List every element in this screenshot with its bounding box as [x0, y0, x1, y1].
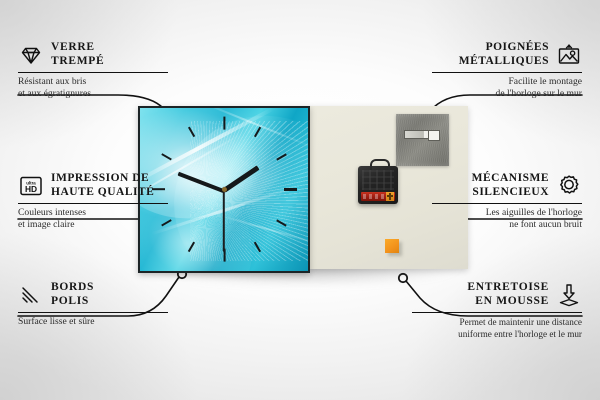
callout-subtitle-line2: uniforme entre l'horloge et le mur	[458, 329, 582, 339]
battery	[361, 192, 395, 201]
callout-rule	[18, 312, 168, 313]
spacer-arrow-icon	[556, 282, 582, 308]
callout-entretoise-en-mousse[interactable]: ENTRETOISE EN MOUSSE Permet de maintenir…	[412, 281, 582, 340]
gear-icon	[556, 173, 582, 199]
callout-rule	[18, 72, 168, 73]
callout-verre-trempe[interactable]: VERRE TREMPÉ Résistant aux bris et aux é…	[18, 41, 168, 100]
svg-text:HD: HD	[25, 184, 37, 194]
callout-subtitle-line1: Facilite le montage	[508, 76, 582, 87]
callout-subtitle-line1: Surface lisse et sûre	[18, 316, 94, 327]
callout-subtitle-line1: Résistant aux bris	[18, 76, 86, 87]
callout-subtitle-line2: de l'horloge sur le mur	[496, 88, 582, 99]
product-image	[138, 106, 468, 269]
hanger-loop	[370, 159, 390, 170]
callout-title-line2: POLIS	[51, 295, 89, 307]
clock-tick-11	[187, 127, 194, 137]
ultra-hd-icon: ultra HD	[18, 173, 44, 199]
callout-subtitle-line2: ne font aucun bruit	[509, 219, 582, 230]
callout-subtitle-line2: et image claire	[18, 219, 74, 230]
callout-rule	[18, 203, 168, 204]
callout-bords-polis[interactable]: BORDS POLIS Surface lisse et sûre	[18, 281, 168, 328]
feather-texture	[190, 121, 310, 261]
callout-subtitle-line1: Les aiguilles de l'horloge	[486, 207, 582, 218]
callout-rule	[432, 72, 582, 73]
metal-hanger-plate	[396, 114, 449, 166]
callout-rule	[412, 312, 582, 313]
battery-plus-terminal	[386, 192, 394, 201]
callout-title-line2: EN MOUSSE	[475, 295, 549, 307]
callout-subtitle-line1: Permet de maintenir une distance	[460, 317, 582, 327]
clock-movement-mechanism	[358, 166, 398, 204]
clock-tick-0	[223, 117, 225, 130]
clock-tick-2	[276, 153, 286, 160]
clock-second-hand	[223, 190, 225, 252]
diamond-icon	[18, 42, 44, 68]
callout-title-line2: MÉTALLIQUES	[459, 55, 549, 67]
callout-title-line1: POIGNÉES	[486, 41, 549, 53]
polished-edges-icon	[18, 282, 44, 308]
callout-title-line2: HAUTE QUALITÉ	[51, 186, 154, 198]
callout-impression-haute-qualite[interactable]: ultra HD IMPRESSION DE HAUTE QUALITÉ Cou…	[18, 172, 168, 231]
foam-spacer	[385, 239, 399, 253]
clock-minute-hand	[178, 171, 225, 192]
callout-poignees-metalliques[interactable]: POIGNÉES MÉTALLIQUES Facilite le montage	[432, 41, 582, 100]
clock-tick-7	[187, 241, 194, 251]
callout-title-line1: IMPRESSION DE	[51, 172, 149, 184]
callout-title-line1: VERRE	[51, 41, 95, 53]
callout-rule	[432, 203, 582, 204]
callout-title-line1: BORDS	[51, 281, 94, 293]
clock-tick-4	[276, 219, 286, 226]
callout-title-line1: ENTRETOISE	[467, 281, 549, 293]
picture-hanger-icon	[556, 42, 582, 68]
callout-mecanisme-silencieux[interactable]: MÉCANISME SILENCIEUX Les aiguilles de l'…	[432, 172, 582, 231]
clock-center-cap	[222, 187, 227, 192]
callout-title-line1: MÉCANISME	[472, 172, 549, 184]
metal-grain	[396, 114, 449, 166]
mechanism-texture	[362, 170, 394, 190]
clock-tick-1	[253, 127, 260, 137]
keyhole-slot	[404, 130, 440, 139]
callout-title-line2: TREMPÉ	[51, 55, 104, 67]
clock-tick-5	[253, 241, 260, 251]
infographic-canvas: VERRE TREMPÉ Résistant aux bris et aux é…	[0, 0, 600, 400]
clock-tick-10	[162, 153, 172, 160]
clock-hour-hand	[223, 166, 260, 193]
callout-subtitle-line1: Couleurs intenses	[18, 207, 86, 218]
callout-subtitle-line2: et aux égratignures	[18, 88, 91, 99]
callout-title-line2: SILENCIEUX	[472, 186, 549, 198]
clock-tick-3	[284, 188, 297, 190]
